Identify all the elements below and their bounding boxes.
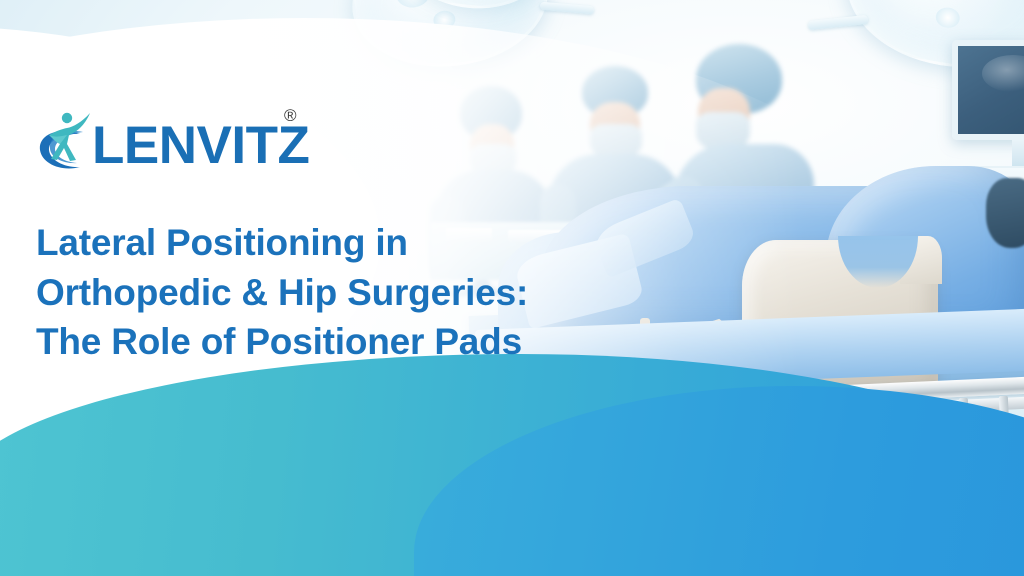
headline-line-2: Orthopedic & Hip Surgeries: — [36, 268, 636, 318]
headline-line-1: Lateral Positioning in — [36, 218, 636, 268]
brand-logo[interactable]: LENVITZ ® — [36, 100, 309, 176]
page-title: Lateral Positioning in Orthopedic & Hip … — [36, 218, 636, 367]
brand-wordmark: LENVITZ — [92, 119, 309, 172]
headline-line-3: The Role of Positioner Pads — [36, 317, 636, 367]
registered-trademark-icon: ® — [284, 106, 297, 126]
banner-content: LENVITZ ® Lateral Positioning in Orthope… — [0, 0, 1024, 576]
blog-banner: LENVITZ ® Lateral Positioning in Orthope… — [0, 0, 1024, 576]
